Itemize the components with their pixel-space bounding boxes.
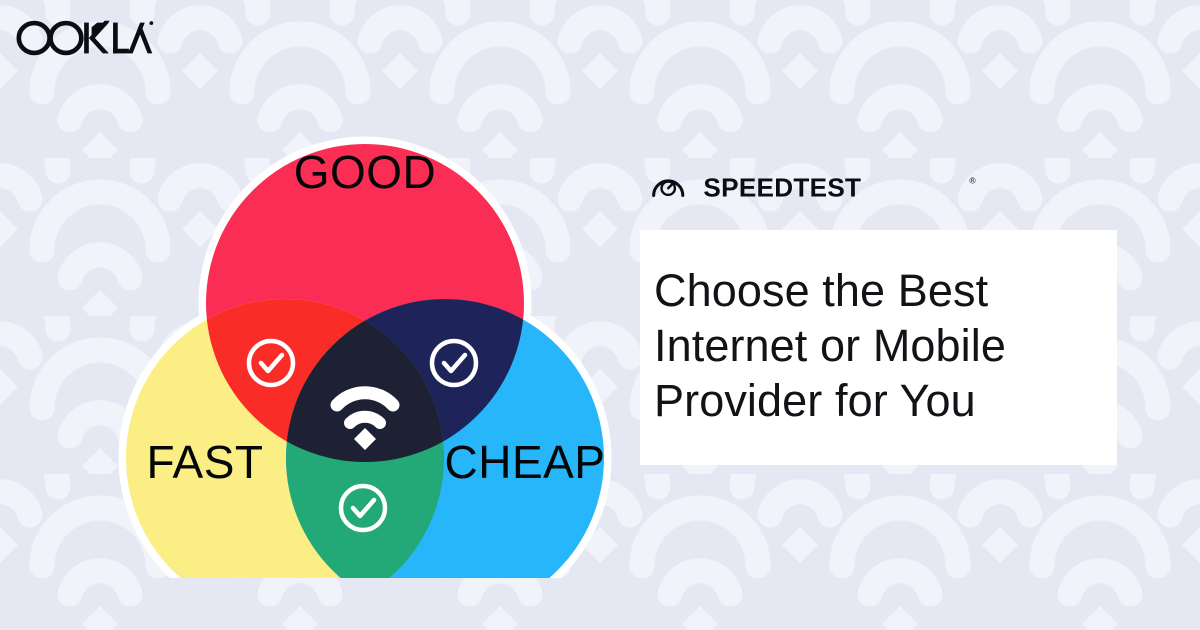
- speedtest-logo: SPEEDTEST ®: [650, 170, 990, 204]
- headline-card: Choose the Best Internet or Mobile Provi…: [640, 230, 1117, 465]
- venn-label-cheap: CHEAP: [445, 436, 606, 488]
- venn-label-fast: FAST: [146, 436, 263, 488]
- ookla-letter-o1: [19, 23, 50, 53]
- venn-label-good: GOOD: [294, 146, 437, 198]
- ookla-letter-o2: [51, 23, 82, 53]
- page-title: Choose the Best Internet or Mobile Provi…: [654, 264, 1117, 429]
- venn-diagram: GOOD FAST CHEAP: [40, 58, 620, 578]
- ookla-trademark-icon: [149, 21, 153, 25]
- speedtest-trademark: ®: [969, 175, 976, 185]
- ookla-logo: [16, 17, 156, 59]
- speedtest-wordmark: SPEEDTEST: [703, 173, 861, 203]
- speedometer-icon: [654, 181, 683, 196]
- right-content-column: SPEEDTEST ® Choose the Best Internet or …: [640, 170, 1120, 465]
- ookla-letter-a: [128, 23, 152, 54]
- ookla-letter-l: [113, 23, 129, 54]
- ookla-letter-k: [84, 21, 110, 54]
